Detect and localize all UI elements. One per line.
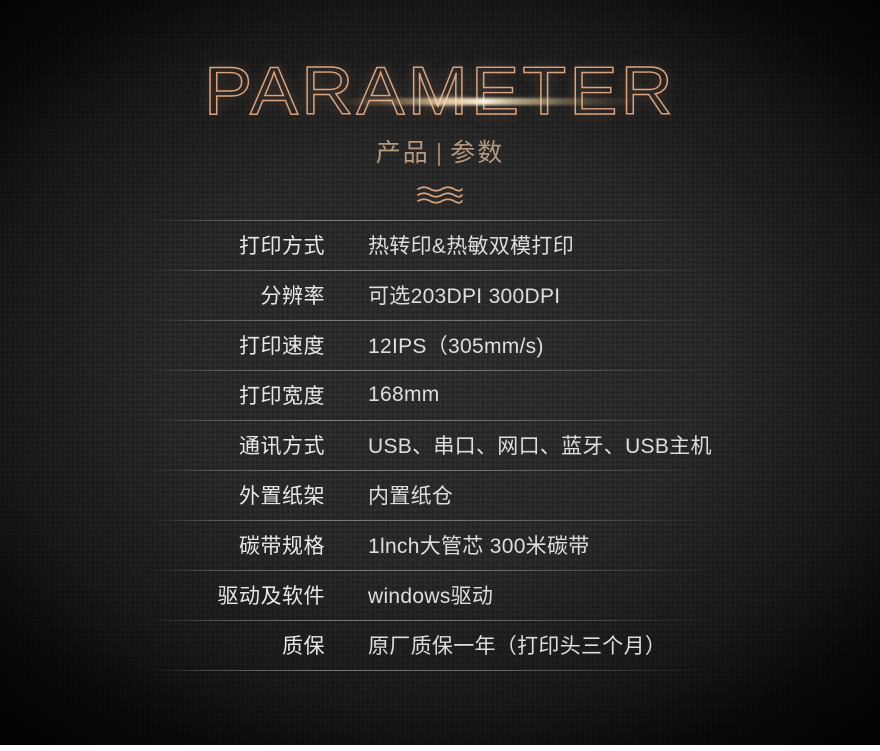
panel-content: PARAMETER 产品|参数 打印方式: [0, 0, 880, 745]
spec-label: 通讯方式: [0, 430, 325, 460]
table-row: 打印速度 12IPS（305mm/s): [0, 320, 880, 370]
spec-value: 可选203DPI 300DPI: [325, 280, 560, 310]
spec-value: 168mm: [325, 383, 440, 407]
title-wrapper: PARAMETER: [0, 48, 880, 134]
spec-value: 原厂质保一年（打印头三个月）: [325, 630, 666, 660]
subtitle-left-text: 产品: [376, 139, 430, 167]
table-row: 驱动及软件 windows驱动: [0, 570, 880, 620]
spec-value: 内置纸仓: [325, 480, 453, 510]
table-row: 通讯方式 USB、串口、网口、蓝牙、USB主机: [0, 420, 880, 470]
spec-label: 打印方式: [0, 230, 325, 260]
subtitle-right-text: 参数: [450, 139, 504, 167]
subtitle-divider-bar: |: [430, 139, 451, 167]
spec-label: 打印速度: [0, 330, 325, 360]
spec-value: 热转印&热敏双模打印: [325, 230, 574, 260]
triple-wave-ornament-icon: [0, 184, 880, 206]
table-row: 打印宽度 168mm: [0, 370, 880, 420]
spec-label: 碳带规格: [0, 530, 325, 560]
spec-value: 12IPS（305mm/s): [325, 330, 544, 360]
specification-table: 打印方式 热转印&热敏双模打印 分辨率 可选203DPI 300DPI 打印速度…: [0, 220, 880, 670]
spec-value: windows驱动: [325, 580, 493, 610]
spec-label: 外置纸架: [0, 480, 325, 510]
table-row: 外置纸架 内置纸仓: [0, 470, 880, 520]
page-title: PARAMETER: [0, 48, 880, 134]
footer-spacer: [0, 676, 880, 745]
spec-label: 打印宽度: [0, 380, 325, 410]
header: PARAMETER 产品|参数: [0, 0, 880, 206]
table-row: 碳带规格 1lnch大管芯 300米碳带: [0, 520, 880, 570]
table-row: 分辨率 可选203DPI 300DPI: [0, 270, 880, 320]
table-row: 打印方式 热转印&热敏双模打印: [0, 220, 880, 270]
table-row: 质保 原厂质保一年（打印头三个月）: [0, 620, 880, 670]
product-parameter-panel: PARAMETER 产品|参数 打印方式: [0, 0, 880, 745]
spec-label: 驱动及软件: [0, 580, 325, 610]
spec-value: USB、串口、网口、蓝牙、USB主机: [325, 430, 712, 460]
spec-value: 1lnch大管芯 300米碳带: [325, 530, 590, 560]
spec-label: 质保: [0, 630, 325, 660]
page-subtitle: 产品|参数: [0, 136, 880, 170]
spec-label: 分辨率: [0, 280, 325, 310]
